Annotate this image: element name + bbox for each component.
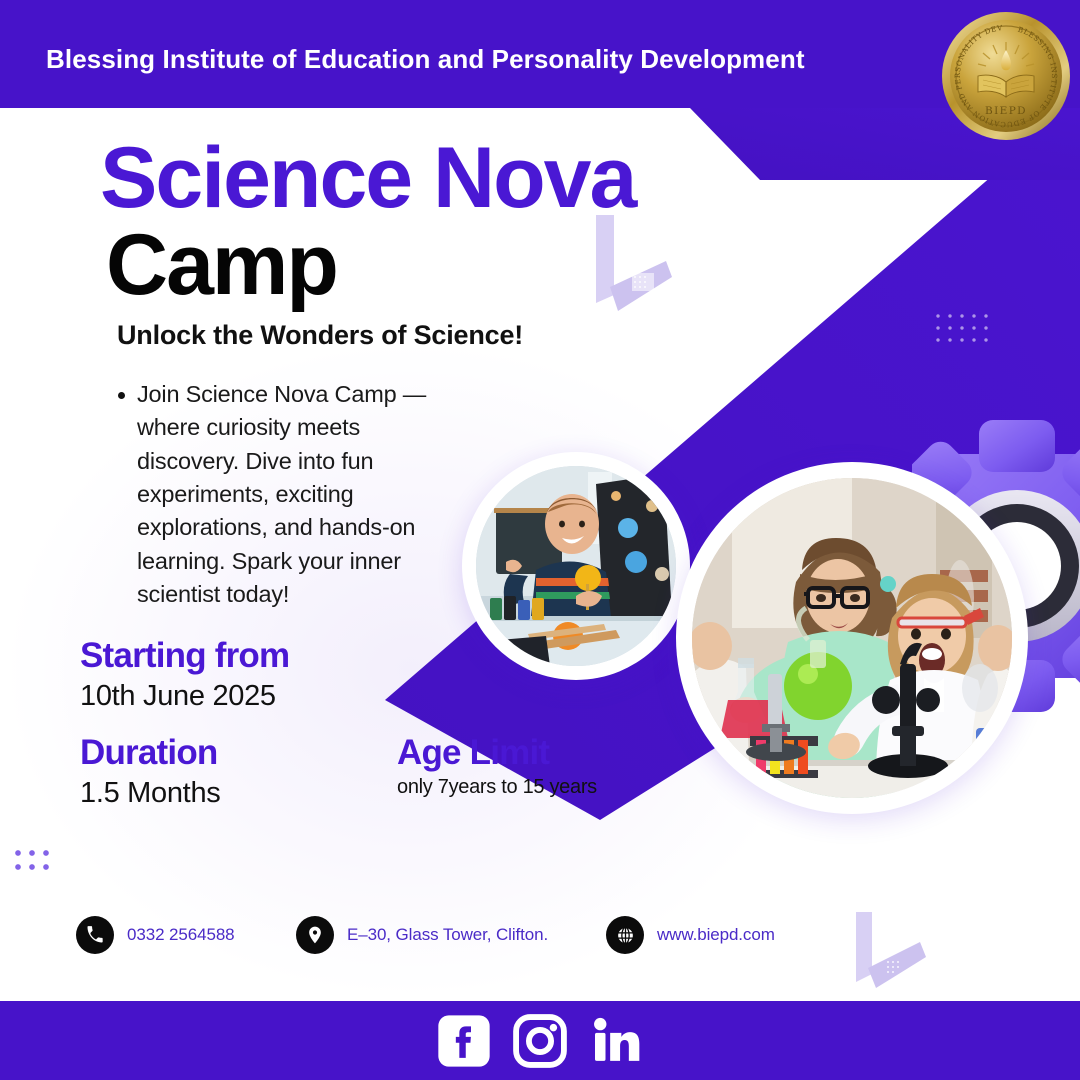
phone-icon <box>76 916 114 954</box>
info-duration-heading: Duration <box>80 734 220 773</box>
headline-line-2: Camp <box>106 222 635 308</box>
contact-row: 0332 2564588 E–30, Glass Tower, Clifton. <box>76 916 936 964</box>
poster-canvas: Blessing Institute of Education and Pers… <box>0 0 1080 1080</box>
photo-lab-image <box>692 478 1012 798</box>
info-age-limit: Age Limit only 7years to 15 years <box>397 734 597 800</box>
bullet-item: Join Science Nova Camp — where curiosity… <box>118 378 468 612</box>
location-pin-icon <box>296 916 334 954</box>
social-row <box>0 1012 1080 1070</box>
contact-address-text: E–30, Glass Tower, Clifton. <box>347 925 548 945</box>
info-age-limit-value: only 7years to 15 years <box>397 775 597 800</box>
photo-boy-image <box>476 466 676 666</box>
dot-grid-bottom-left <box>8 843 54 877</box>
info-starting-from-value: 10th June 2025 <box>80 678 289 714</box>
photo-boy-solar-system <box>462 452 690 680</box>
contact-phone-text: 0332 2564588 <box>127 925 235 945</box>
headline-line-1: Science Nova <box>100 136 635 220</box>
bullet-dot-icon <box>118 392 125 399</box>
info-starting-from: Starting from 10th June 2025 <box>80 637 289 714</box>
description-block: Join Science Nova Camp — where curiosity… <box>118 378 468 612</box>
info-age-limit-heading: Age Limit <box>397 734 597 773</box>
facebook-icon[interactable] <box>435 1012 493 1070</box>
institute-name: Blessing Institute of Education and Pers… <box>46 44 805 75</box>
instagram-icon[interactable] <box>511 1012 569 1070</box>
linkedin-icon[interactable] <box>587 1012 645 1070</box>
tagline: Unlock the Wonders of Science! <box>117 320 523 351</box>
globe-icon <box>606 916 644 954</box>
contact-website[interactable]: www.biepd.com <box>606 916 775 954</box>
info-starting-from-heading: Starting from <box>80 637 289 676</box>
info-duration: Duration 1.5 Months <box>80 734 220 811</box>
svg-text:BIEPD: BIEPD <box>985 105 1027 117</box>
contact-phone[interactable]: 0332 2564588 <box>76 916 235 954</box>
bullet-text: Join Science Nova Camp — where curiosity… <box>137 378 468 612</box>
contact-website-text: www.biepd.com <box>657 925 775 945</box>
dot-grid-on-band <box>930 308 990 344</box>
contact-address[interactable]: E–30, Glass Tower, Clifton. <box>296 916 548 954</box>
photo-children-science-lab <box>676 462 1028 814</box>
biepd-logo-badge: BLESSING INSTITUTE OF EDUCATION AND PERS… <box>938 8 1074 144</box>
info-duration-value: 1.5 Months <box>80 775 220 811</box>
headline: Science Nova Camp <box>100 136 635 308</box>
